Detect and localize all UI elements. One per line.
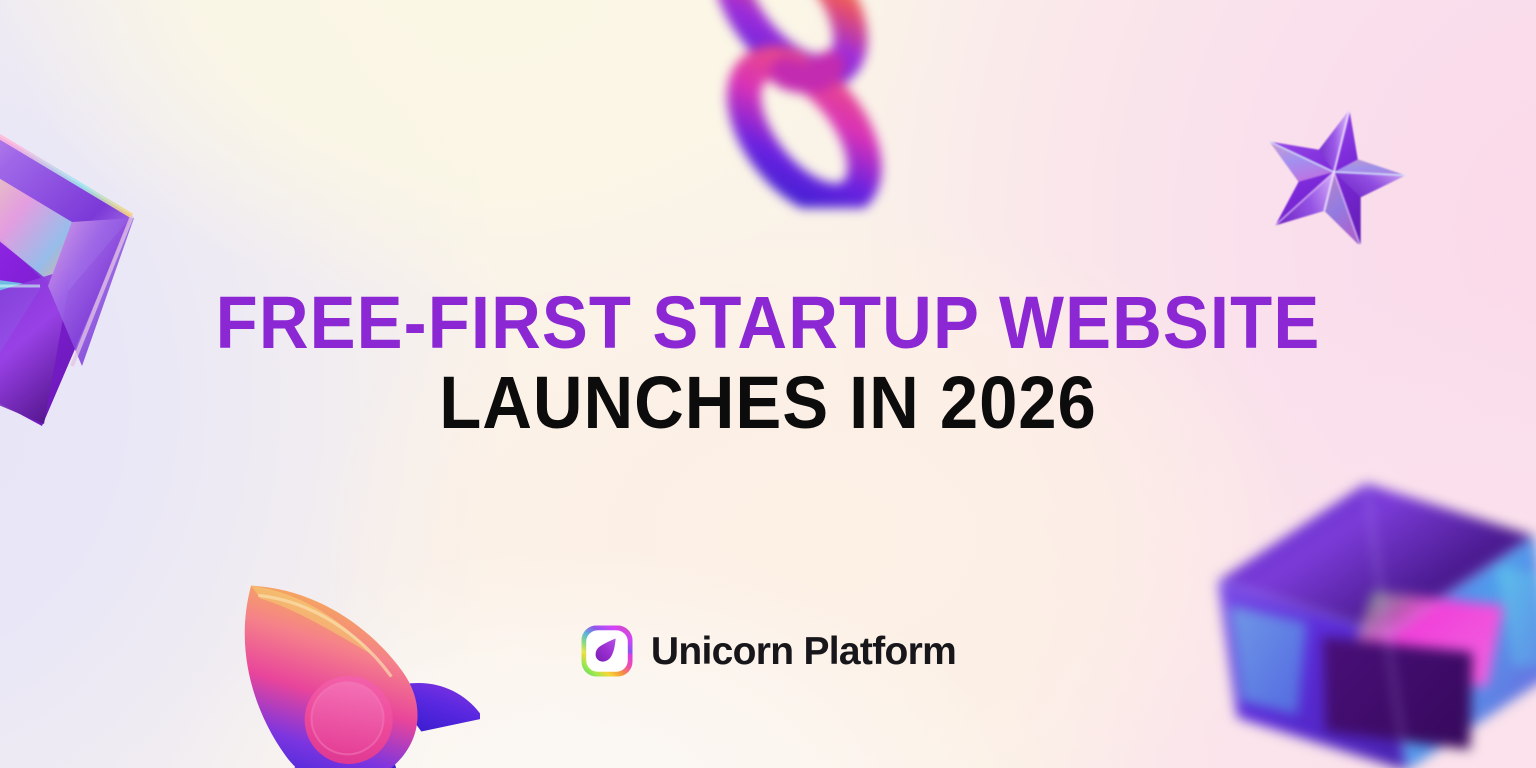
chain-icon	[635, 0, 955, 208]
hero-banner: FREE-FIRST STARTUP WEBSITE LAUNCHES IN 2…	[0, 0, 1536, 768]
headline-line-primary: FREE-FIRST STARTUP WEBSITE	[54, 288, 1482, 358]
brand-lockup[interactable]: Unicorn Platform	[0, 624, 1536, 678]
cube-icon	[1216, 472, 1536, 768]
page-title: FREE-FIRST STARTUP WEBSITE LAUNCHES IN 2…	[0, 288, 1536, 437]
headline-line-secondary: LAUNCHES IN 2026	[54, 368, 1482, 438]
star-icon	[1262, 100, 1406, 244]
brand-name-label: Unicorn Platform	[651, 632, 956, 671]
unicorn-platform-logo-icon[interactable]	[580, 624, 634, 678]
